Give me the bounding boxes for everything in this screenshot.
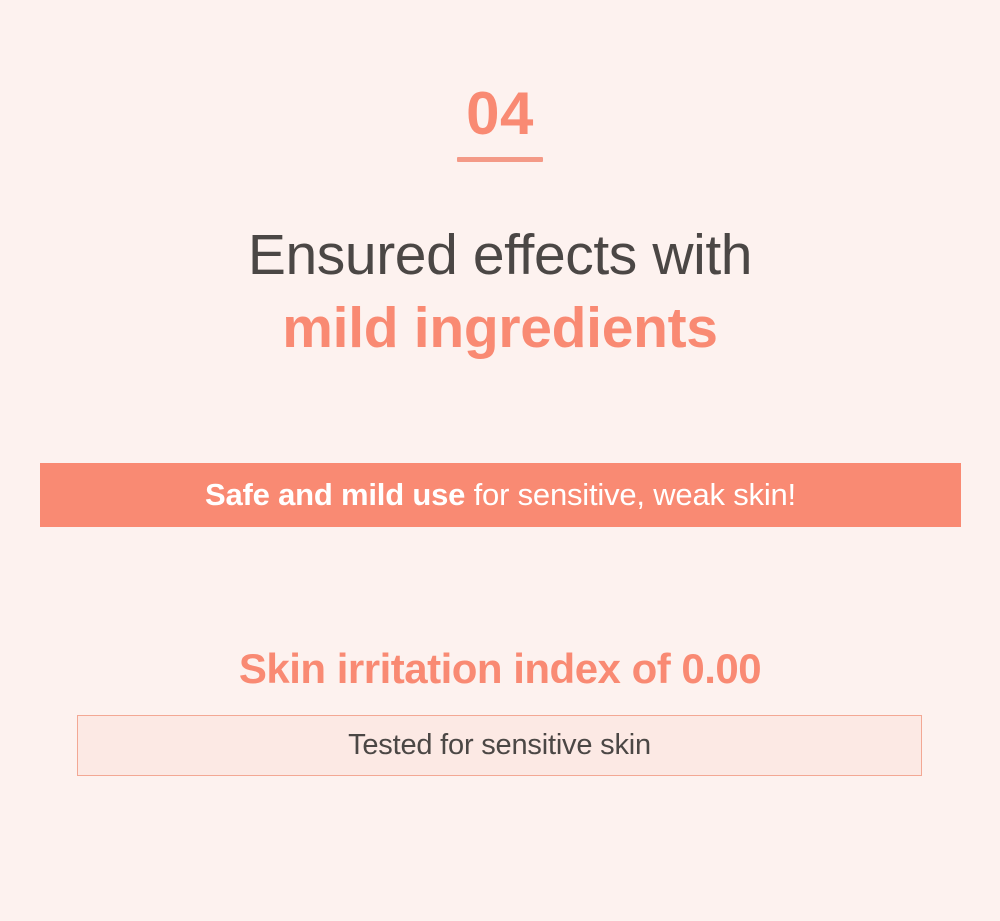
safety-banner-rest: for sensitive, weak skin! (465, 477, 796, 512)
headline-line-2: mild ingredients (0, 295, 1000, 362)
tested-claim-text: Tested for sensitive skin (348, 729, 651, 762)
safety-banner-text: Safe and mild use for sensitive, weak sk… (205, 477, 796, 513)
headline-line-1: Ensured effects with (0, 222, 1000, 289)
headline: Ensured effects with mild ingredients (0, 222, 1000, 363)
step-number-underline (457, 157, 543, 162)
safety-banner-emphasis: Safe and mild use (205, 477, 465, 512)
step-number-block: 04 (0, 82, 1000, 162)
tested-claim-box: Tested for sensitive skin (77, 715, 922, 776)
safety-banner: Safe and mild use for sensitive, weak sk… (40, 463, 961, 527)
step-number: 04 (466, 82, 534, 145)
irritation-index-heading: Skin irritation index of 0.00 (0, 645, 1000, 693)
promo-panel: 04 Ensured effects with mild ingredients… (0, 0, 1000, 921)
